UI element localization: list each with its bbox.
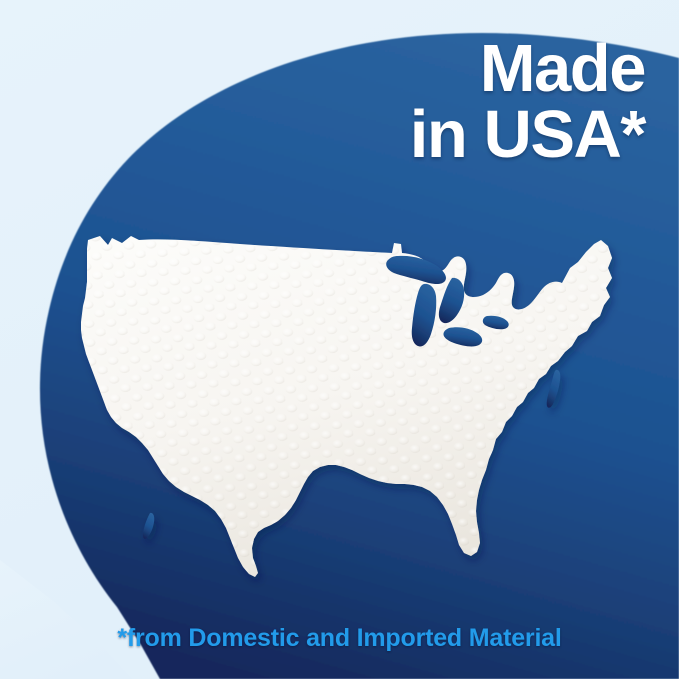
made-in-usa-poster: Made in USA* *from Domestic and Imported… [0, 0, 679, 679]
poster-artwork [0, 0, 679, 679]
